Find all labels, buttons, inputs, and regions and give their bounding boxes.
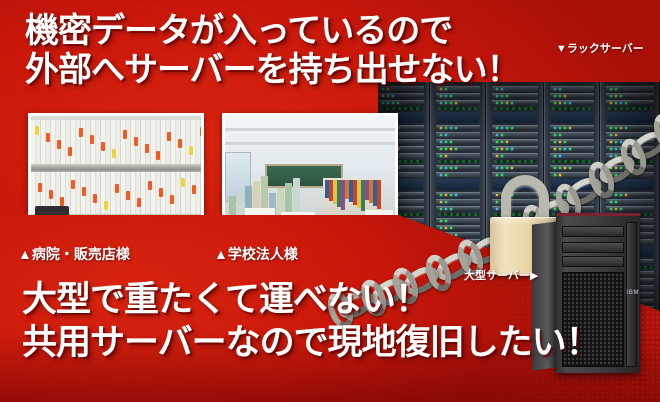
folder-index-tab [93, 194, 97, 203]
shelf-board [28, 164, 204, 170]
folder-index-tab [145, 144, 149, 153]
folder-index-tab [192, 185, 196, 194]
folder-index-tab [134, 137, 138, 146]
folder-index-tab [203, 192, 204, 201]
folder-index-tab [104, 201, 108, 210]
folder-index-tab [71, 180, 75, 189]
caption-large-server: 大型サーバー▶ [464, 267, 538, 283]
headline-bottom-line-2: 共用サーバーなので現地復旧したい！ [22, 325, 600, 360]
folder-index-tab [123, 130, 127, 139]
folder-index-tab [79, 128, 83, 137]
folder-index-tab [68, 147, 72, 156]
folder-index-tab [112, 149, 116, 158]
file-folder-row [31, 120, 201, 164]
folder-index-tab [178, 139, 182, 148]
headline-bottom-line-1: 大型で重たくて運べない！ [22, 282, 429, 317]
folder-index-tab [189, 146, 193, 155]
book-spine [377, 180, 381, 209]
folder-index-tab [35, 126, 39, 135]
headline-top-line-2: 外部へサーバーを持ち出せない！ [25, 53, 520, 87]
folder-index-tab [170, 195, 174, 204]
folder-index-tab [148, 181, 152, 190]
folder-index-tab [156, 151, 160, 160]
caption-hospital-retail: ▲病院・販売店様 [18, 244, 130, 264]
headline-top-line-1: 機密データが入っているので [25, 14, 452, 48]
folder-index-tab [82, 187, 86, 196]
drive-bay-3 [562, 256, 624, 267]
caption-school-corporation: ▲学校法人様 [214, 244, 298, 264]
folder-index-tab [159, 188, 163, 197]
folder-index-tab [181, 178, 185, 187]
folder-index-tab [60, 197, 64, 206]
promo-banner: IBM 機密データが入っているので 外部へサーバーを持ち出せない！ 大型で重たく… [0, 0, 660, 402]
folder-index-tab [200, 127, 204, 136]
folder-index-tab [167, 132, 171, 141]
caption-rack-server: ▼ラックサーバー [556, 40, 644, 56]
folder-index-tab [101, 142, 105, 151]
folder-index-tab [57, 140, 61, 149]
folder-index-tab [115, 184, 119, 193]
folder-index-tab [90, 135, 94, 144]
folder-index-tab [46, 133, 50, 142]
folder-index-tab [49, 190, 53, 199]
optical-drive-bay [562, 226, 624, 237]
ceiling [225, 116, 395, 156]
folder-index-tab [137, 198, 141, 207]
drive-bay-2 [562, 242, 624, 253]
folder-index-tab [38, 183, 42, 192]
folder-index-tab [126, 191, 130, 200]
ibm-logo: IBM [627, 290, 640, 296]
